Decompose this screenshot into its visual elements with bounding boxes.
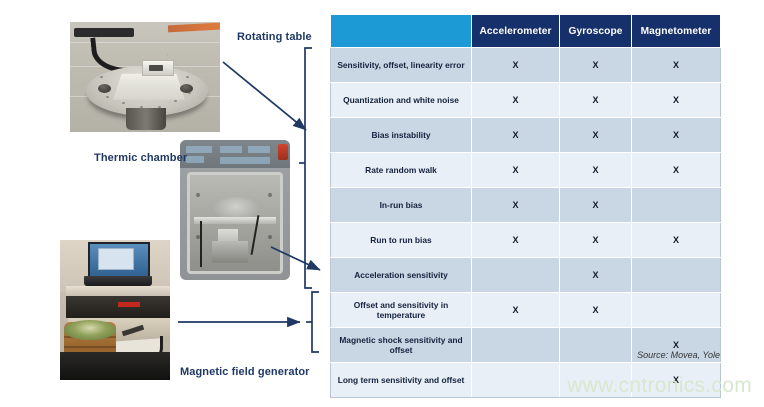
- photo-knob: [98, 84, 111, 93]
- parameter-name-cell: Rate random walk: [331, 153, 472, 188]
- cell-magnetometer: X: [632, 48, 721, 83]
- table-row: Sensitivity, offset, linearity errorXXX: [331, 48, 721, 83]
- photo-display: [220, 157, 270, 164]
- cell-gyroscope: X: [560, 153, 632, 188]
- cell-accelerometer: X: [472, 293, 560, 328]
- photo-coil-top: [64, 320, 116, 340]
- cell-gyroscope: X: [560, 48, 632, 83]
- cell-accelerometer: [472, 258, 560, 293]
- photo-display: [186, 146, 212, 153]
- table-header-row: Accelerometer Gyroscope Magnetometer: [331, 15, 721, 48]
- photo-shelf: [194, 217, 276, 224]
- photo-power-button: [278, 144, 288, 160]
- slide-canvas: Rotating table Thermic chamber Magnetic …: [0, 0, 764, 407]
- label-thermic-chamber: Thermic chamber: [94, 152, 187, 164]
- thermic-chamber-photo: [180, 140, 290, 280]
- photo-hole: [174, 100, 177, 102]
- photo-display: [248, 146, 270, 153]
- bracket-upper: [305, 48, 312, 288]
- parameter-name-cell: Quantization and white noise: [331, 83, 472, 118]
- cell-gyroscope: X: [560, 293, 632, 328]
- cell-magnetometer: X: [632, 118, 721, 153]
- sensor-error-parameters-table: Accelerometer Gyroscope Magnetometer Sen…: [330, 14, 721, 398]
- table-body: Sensitivity, offset, linearity errorXXXQ…: [331, 48, 721, 398]
- photo-screw: [268, 235, 272, 239]
- cell-accelerometer: X: [472, 188, 560, 223]
- cell-magnetometer: X: [632, 153, 721, 188]
- photo-laptop-base: [84, 276, 152, 286]
- arrow-rotating-table-to-table: [223, 62, 306, 130]
- photo-display: [220, 146, 242, 153]
- photo-hole: [100, 76, 103, 78]
- photo-hole: [158, 106, 161, 108]
- photo-hole: [106, 96, 109, 98]
- cell-gyroscope: X: [560, 83, 632, 118]
- column-header-magnetometer: Magnetometer: [632, 15, 721, 48]
- photo-screw: [196, 193, 200, 197]
- cell-magnetometer: [632, 293, 721, 328]
- table-row: Run to run biasXXX: [331, 223, 721, 258]
- photo-knob: [180, 84, 193, 93]
- parameter-name-cell: Run to run bias: [331, 223, 472, 258]
- photo-coil-winding: [64, 346, 116, 348]
- parameter-name-cell: In-run bias: [331, 188, 472, 223]
- photo-hole: [122, 102, 125, 104]
- photo-turntable-pedestal: [126, 108, 166, 130]
- photo-screw: [268, 193, 272, 197]
- cell-gyroscope: X: [560, 258, 632, 293]
- cell-accelerometer: X: [472, 48, 560, 83]
- cell-magnetometer: [632, 188, 721, 223]
- table-row: Acceleration sensitivityX: [331, 258, 721, 293]
- photo-hole: [186, 76, 189, 78]
- table-row: Offset and sensitivity in temperatureXX: [331, 293, 721, 328]
- table-row: Bias instabilityXXX: [331, 118, 721, 153]
- parameter-name-cell: Offset and sensitivity in temperature: [331, 293, 472, 328]
- cell-gyroscope: X: [560, 223, 632, 258]
- table-row: Quantization and white noiseXXX: [331, 83, 721, 118]
- cell-magnetometer: X: [632, 223, 721, 258]
- cell-magnetometer: [632, 258, 721, 293]
- column-header-gyroscope: Gyroscope: [560, 15, 632, 48]
- parameter-name-cell: Sensitivity, offset, linearity error: [331, 48, 472, 83]
- table-row: Rate random walkXXX: [331, 153, 721, 188]
- parameter-name-cell: Acceleration sensitivity: [331, 258, 472, 293]
- rotating-table-photo: [70, 22, 220, 132]
- cell-magnetometer: X: [632, 83, 721, 118]
- photo-screw: [196, 235, 200, 239]
- table-corner-header: [331, 15, 472, 48]
- photo-display: [186, 156, 204, 163]
- photo-hole: [188, 92, 191, 94]
- photo-base-unit: [212, 241, 248, 263]
- bracket-lower: [312, 292, 319, 352]
- photo-wire: [200, 221, 202, 267]
- photo-sensor-chip: [149, 65, 163, 71]
- site-watermark: www.cntronics.com: [0, 374, 752, 398]
- cell-accelerometer: X: [472, 83, 560, 118]
- photo-hole: [140, 106, 143, 108]
- cell-gyroscope: X: [560, 188, 632, 223]
- photo-mounting-plate: [113, 74, 184, 100]
- photo-led-readout: [118, 302, 140, 307]
- column-header-accelerometer: Accelerometer: [472, 15, 560, 48]
- cell-accelerometer: X: [472, 153, 560, 188]
- cell-accelerometer: X: [472, 118, 560, 153]
- cell-accelerometer: X: [472, 223, 560, 258]
- source-credit: Source: Movea, Yole: [0, 350, 720, 360]
- parameter-name-cell: Bias instability: [331, 118, 472, 153]
- table-header: Accelerometer Gyroscope Magnetometer: [331, 15, 721, 48]
- photo-instrument: [66, 296, 170, 318]
- label-rotating-table: Rotating table: [237, 31, 312, 43]
- table-row: In-run biasXX: [331, 188, 721, 223]
- photo-decor-strip: [168, 23, 220, 33]
- photo-screen-window: [98, 248, 134, 270]
- photo-chamber-cavity: [187, 172, 283, 274]
- cell-gyroscope: X: [560, 118, 632, 153]
